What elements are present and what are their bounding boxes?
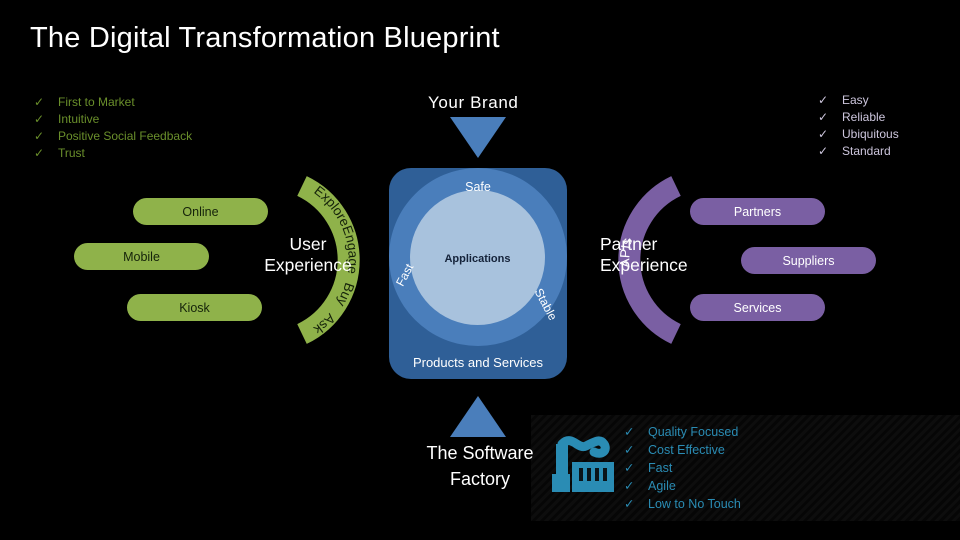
partner-experience-checklist: ✓ Easy ✓ Reliable ✓ Ubiquitous ✓ Standar… [818,92,899,160]
check-icon: ✓ [34,128,58,145]
your-brand-label: Your Brand [428,93,518,113]
list-item-label: Reliable [842,109,885,126]
list-item-label: Cost Effective [648,441,725,459]
applications-label: Applications [410,253,545,265]
check-icon: ✓ [34,94,58,111]
list-item-label: Easy [842,92,869,109]
partner-experience-title-line1: Partner [600,234,657,254]
channel-pill-label: Kiosk [179,301,210,315]
slide-canvas: The Digital Transformation Blueprint ✓ F… [0,0,960,540]
list-item-label: Low to No Touch [648,495,741,513]
check-icon: ✓ [818,126,842,143]
check-icon: ✓ [818,143,842,160]
channel-pill-online[interactable]: Online [133,198,268,225]
list-item: ✓ Reliable [818,109,899,126]
user-experience-checklist: ✓ First to Market ✓ Intuitive ✓ Positive… [34,94,192,162]
brand-arrow-down-icon [450,117,506,158]
list-item-label: First to Market [58,94,135,111]
software-factory-arrow-up-icon [450,396,506,437]
list-item-label: Agile [648,477,676,495]
page-title: The Digital Transformation Blueprint [30,22,500,55]
software-factory-title: The Software Factory [400,440,560,492]
check-icon: ✓ [624,459,648,477]
check-icon: ✓ [818,109,842,126]
list-item: ✓ First to Market [34,94,192,111]
channel-pill-label: Mobile [123,250,160,264]
list-item: ✓ Standard [818,143,899,160]
list-item: ✓ Ubiquitous [818,126,899,143]
list-item: ✓ Low to No Touch [624,495,741,513]
channel-pill-label: Online [182,205,218,219]
partner-pill-label: Services [734,301,782,315]
check-icon: ✓ [624,477,648,495]
partner-pill-services[interactable]: Services [690,294,825,321]
partner-pill-label: Partners [734,205,781,219]
partner-experience-title: Partner Experience [600,234,750,276]
list-item-label: Quality Focused [648,423,738,441]
list-item-label: Standard [842,143,891,160]
software-factory-checklist: ✓ Quality Focused ✓ Cost Effective ✓ Fas… [624,423,741,513]
user-experience-title: User Experience [238,234,378,276]
list-item: ✓ Cost Effective [624,441,741,459]
check-icon: ✓ [34,145,58,162]
list-item-label: Trust [58,145,85,162]
list-item: ✓ Fast [624,459,741,477]
list-item-label: Intuitive [58,111,99,128]
list-item: ✓ Intuitive [34,111,192,128]
user-experience-title-line2: Experience [264,255,352,275]
partner-pill-label: Suppliers [782,254,834,268]
user-experience-title-line1: User [290,234,327,254]
check-icon: ✓ [624,441,648,459]
partner-experience-title-line2: Experience [600,255,688,275]
list-item: ✓ Easy [818,92,899,109]
partner-pill-suppliers[interactable]: Suppliers [741,247,876,274]
list-item: ✓ Trust [34,145,192,162]
software-factory-title-line2: Factory [450,469,510,489]
list-item-label: Fast [648,459,672,477]
list-item-label: Positive Social Feedback [58,128,192,145]
list-item: ✓ Positive Social Feedback [34,128,192,145]
list-item-label: Ubiquitous [842,126,899,143]
check-icon: ✓ [624,423,648,441]
check-icon: ✓ [624,495,648,513]
check-icon: ✓ [34,111,58,128]
products-and-services-label: Products and Services [389,355,567,370]
channel-pill-mobile[interactable]: Mobile [74,243,209,270]
core-attribute-safe: Safe [389,180,567,194]
factory-icon [548,430,620,502]
list-item: ✓ Agile [624,477,741,495]
channel-pill-kiosk[interactable]: Kiosk [127,294,262,321]
list-item: ✓ Quality Focused [624,423,741,441]
check-icon: ✓ [818,92,842,109]
partner-pill-partners[interactable]: Partners [690,198,825,225]
software-factory-title-line1: The Software [426,443,533,463]
